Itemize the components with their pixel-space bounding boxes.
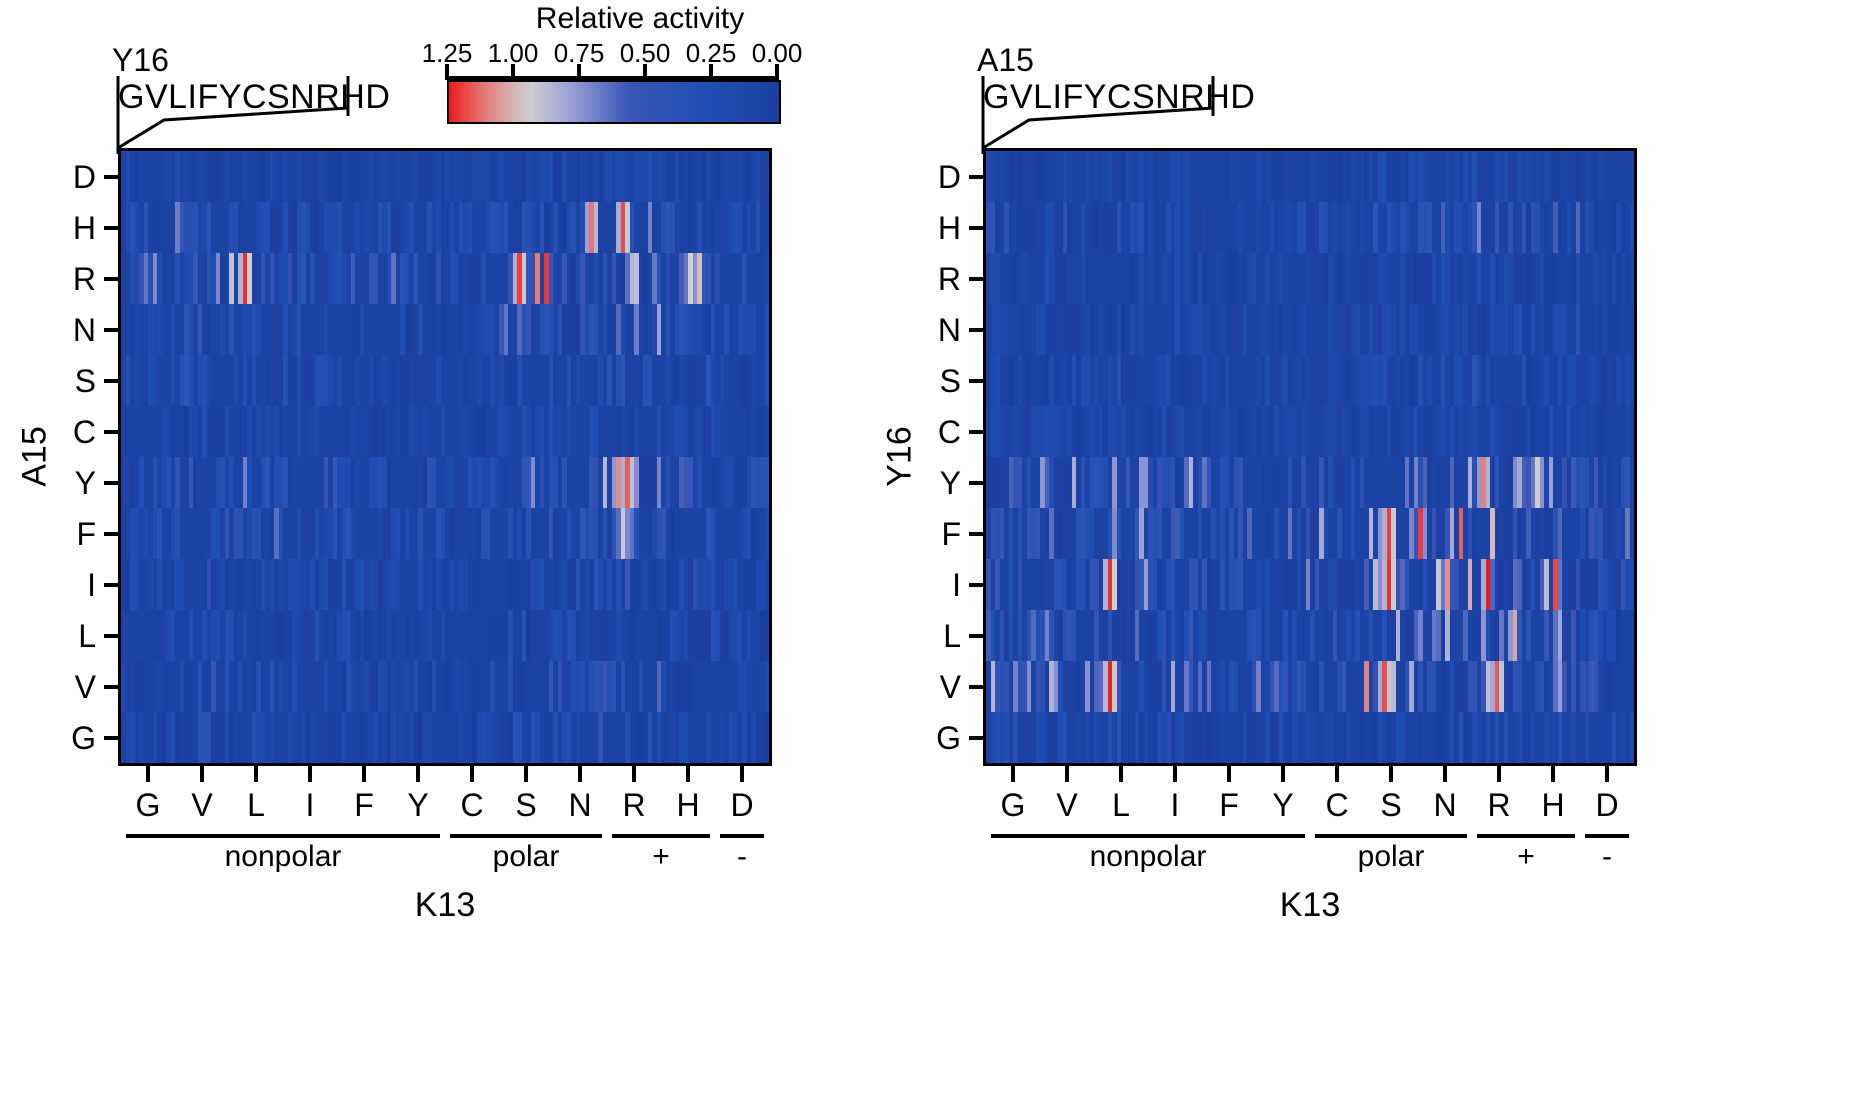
xtick-label: S	[1380, 788, 1401, 822]
panel-left-top-annotation: Y16 GVLIFYCSNRHD	[112, 42, 492, 152]
xtick-label: D	[1595, 788, 1618, 822]
ytick-label: V	[901, 671, 961, 703]
xtick-mark	[632, 766, 636, 782]
xtick-mark	[1227, 766, 1231, 782]
xtick-label: R	[622, 788, 645, 822]
ytick-label: C	[901, 416, 961, 448]
xtick-label: V	[191, 788, 212, 822]
ytick-label: I	[36, 569, 96, 601]
ytick-label: S	[36, 365, 96, 397]
xtick-label: G	[136, 788, 161, 822]
ytick-label: L	[901, 620, 961, 652]
xtick-mark	[470, 766, 474, 782]
xtick-mark	[1119, 766, 1123, 782]
ytick-label: R	[901, 263, 961, 295]
xtick-label: I	[1171, 788, 1180, 822]
ytick-mark	[104, 481, 118, 485]
group-label: +	[652, 840, 670, 874]
xtick-label: Y	[407, 788, 428, 822]
ytick-mark	[104, 685, 118, 689]
xtick-mark	[146, 766, 150, 782]
xtick-mark	[524, 766, 528, 782]
panel-left-plot-area[interactable]	[118, 148, 772, 766]
xtick-mark	[578, 766, 582, 782]
ytick-label: I	[901, 569, 961, 601]
xtick-label: Y	[1272, 788, 1293, 822]
group-bracket	[1477, 834, 1574, 838]
heatmap-panel-left: Y16 GVLIFYCSNRHD A15 DHRNSCYFILVG GVLIFY…	[0, 0, 910, 1101]
panel-right-plot-area[interactable]	[983, 148, 1637, 766]
ytick-label: Y	[36, 467, 96, 499]
ytick-mark	[104, 175, 118, 179]
xtick-label: V	[1056, 788, 1077, 822]
xtick-mark	[362, 766, 366, 782]
ytick-label: D	[901, 161, 961, 193]
group-bracket	[612, 834, 709, 838]
group-bracket	[126, 834, 439, 838]
xtick-label: S	[515, 788, 536, 822]
ytick-mark	[969, 685, 983, 689]
ytick-mark	[969, 175, 983, 179]
ytick-mark	[969, 481, 983, 485]
group-label: -	[737, 840, 747, 874]
ytick-mark	[104, 277, 118, 281]
group-label: nonpolar	[225, 840, 342, 874]
xtick-mark	[254, 766, 258, 782]
xtick-mark	[1389, 766, 1393, 782]
xtick-label: F	[354, 788, 374, 822]
ytick-label: N	[36, 314, 96, 346]
ytick-mark	[969, 328, 983, 332]
heatmap-image-left	[121, 151, 769, 763]
xtick-mark	[1173, 766, 1177, 782]
panel-right-callout-bracket	[977, 42, 1357, 152]
ytick-mark	[969, 736, 983, 740]
ytick-label: H	[36, 212, 96, 244]
xtick-label: L	[1112, 788, 1130, 822]
ytick-label: V	[36, 671, 96, 703]
ytick-label: C	[36, 416, 96, 448]
ytick-mark	[104, 532, 118, 536]
xtick-mark	[1335, 766, 1339, 782]
xtick-mark	[686, 766, 690, 782]
group-label: nonpolar	[1090, 840, 1207, 874]
xtick-label: N	[568, 788, 591, 822]
xtick-label: C	[1325, 788, 1348, 822]
ytick-mark	[969, 532, 983, 536]
ytick-mark	[969, 277, 983, 281]
ytick-mark	[104, 634, 118, 638]
ytick-label: N	[901, 314, 961, 346]
group-bracket	[450, 834, 601, 838]
xtick-mark	[1443, 766, 1447, 782]
group-label: polar	[1358, 840, 1425, 874]
xtick-mark	[740, 766, 744, 782]
xtick-label: F	[1219, 788, 1239, 822]
panel-right-xaxis-title: K13	[1280, 886, 1341, 924]
xtick-mark	[1497, 766, 1501, 782]
heatmap-image-right	[986, 151, 1634, 763]
ytick-mark	[104, 379, 118, 383]
ytick-mark	[104, 226, 118, 230]
xtick-label: N	[1433, 788, 1456, 822]
xtick-label: G	[1001, 788, 1026, 822]
xtick-label: D	[730, 788, 753, 822]
xtick-mark	[200, 766, 204, 782]
ytick-mark	[104, 736, 118, 740]
heatmap-panel-right: A15 GVLIFYCSNRHD Y16 DHRNSCYFILVG GVLIFY…	[865, 0, 1775, 1101]
group-bracket	[991, 834, 1304, 838]
ytick-label: L	[36, 620, 96, 652]
panel-right-top-annotation: A15 GVLIFYCSNRHD	[977, 42, 1357, 152]
group-label: polar	[493, 840, 560, 874]
ytick-mark	[104, 430, 118, 434]
ytick-mark	[104, 583, 118, 587]
group-label: -	[1602, 840, 1612, 874]
ytick-mark	[969, 226, 983, 230]
ytick-mark	[969, 430, 983, 434]
group-label: +	[1517, 840, 1535, 874]
ytick-label: F	[901, 518, 961, 550]
ytick-label: D	[36, 161, 96, 193]
panel-left-xaxis-title: K13	[415, 886, 476, 924]
ytick-label: G	[36, 722, 96, 754]
ytick-mark	[969, 634, 983, 638]
xtick-label: C	[460, 788, 483, 822]
ytick-label: S	[901, 365, 961, 397]
group-bracket	[1315, 834, 1466, 838]
xtick-mark	[416, 766, 420, 782]
ytick-label: R	[36, 263, 96, 295]
ytick-label: Y	[901, 467, 961, 499]
group-bracket	[720, 834, 763, 838]
xtick-label: H	[676, 788, 699, 822]
ytick-label: F	[36, 518, 96, 550]
xtick-mark	[1011, 766, 1015, 782]
ytick-label: H	[901, 212, 961, 244]
xtick-label: R	[1487, 788, 1510, 822]
ytick-mark	[104, 328, 118, 332]
ytick-mark	[969, 583, 983, 587]
group-bracket	[1585, 834, 1628, 838]
xtick-mark	[1551, 766, 1555, 782]
ytick-label: G	[901, 722, 961, 754]
xtick-mark	[308, 766, 312, 782]
panel-left-callout-bracket	[112, 42, 492, 152]
ytick-mark	[969, 379, 983, 383]
xtick-mark	[1065, 766, 1069, 782]
xtick-label: H	[1541, 788, 1564, 822]
xtick-label: I	[306, 788, 315, 822]
xtick-mark	[1605, 766, 1609, 782]
xtick-label: L	[247, 788, 265, 822]
xtick-mark	[1281, 766, 1285, 782]
